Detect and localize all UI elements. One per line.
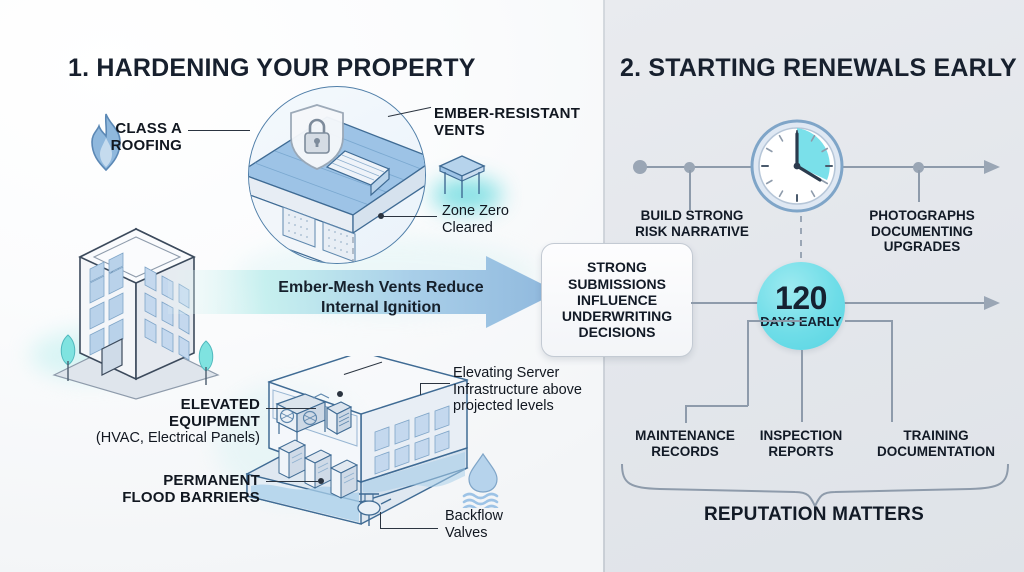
timeline-bottom-arrowhead [984,294,1002,312]
water-drop-waves-icon [460,452,506,508]
clock-to-badge-dashed-connector [800,216,802,262]
dot-zone-zero [378,213,384,219]
label-ember-resistant-vents: EMBER-RESISTANT VENTS [434,105,604,139]
clock-icon [749,118,845,214]
bottom-brace [620,462,1010,508]
label-class-a-roofing: CLASS A ROOFING [60,120,182,154]
infographic-canvas: 1. HARDENING YOUR PROPERTY 2. STARTING R… [0,0,1024,572]
dot-flood-barriers [318,478,324,484]
iso-elevated-equipment-building-icon [243,356,471,528]
label-maintenance-records: MAINTENANCE RECORDS [614,428,756,459]
label-zone-zero-cleared: Zone Zero Cleared [442,203,572,236]
leader-backflow-valves-v [380,512,381,529]
footer-reputation-matters: REPUTATION MATTERS [604,504,1024,526]
badge-120-days-early: 120 DAYS EARLY [757,262,845,350]
timeline-top-arrowhead [984,158,1002,176]
badge-number: 120 [775,283,827,314]
label-backflow-valves: Backflow Valves [445,508,565,541]
badge-unit: DAYS EARLY [760,315,841,329]
dot-server [337,391,343,397]
label-build-strong-risk-narrative: BUILD STRONG RISK NARRATIVE [620,208,764,239]
badge-branch-right [845,320,892,322]
leader-elevating-server-v [420,383,421,395]
ember-mesh-arrow-label: Ember-Mesh Vents Reduce Internal Ignitio… [256,278,506,318]
timeline-drop-build-narrative [689,170,691,210]
leader-class-a-roofing [188,130,250,131]
label-photographs-documenting-upgrades: PHOTOGRAPHS DOCUMENTING UPGRADES [852,208,992,255]
badge-branch-left [747,320,802,322]
center-callout-box: STRONG SUBMISSIONS INFLUENCE UNDERWRITIN… [541,243,693,357]
callout-to-badge-line [691,302,731,304]
leader-zone-zero [383,216,437,217]
leader-backflow-valves [380,528,438,529]
leader-elevating-server [420,383,450,384]
label-inspection-reports: INSPECTION REPORTS [745,428,857,459]
ember-vent-icon [432,150,492,202]
branch-left-v2 [685,405,687,423]
timeline-dot-start [633,160,647,174]
leader-elevated-equipment [266,408,316,409]
label-elevated-equipment-sub: (HVAC, Electrical Panels) [60,430,260,447]
page-title-left: 1. HARDENING YOUR PROPERTY [68,54,476,83]
label-training-documentation: TRAINING DOCUMENTATION [855,428,1017,459]
timeline-drop-photographs [918,170,920,202]
center-callout-text: STRONG SUBMISSIONS INFLUENCE UNDERWRITIN… [562,259,672,340]
label-permanent-flood-barriers: PERMANENT FLOOD BARRIERS [60,472,260,506]
label-elevating-server: Elevating Server Infrastructure above pr… [453,365,613,415]
branch-right-v [891,320,893,422]
label-elevated-equipment: ELEVATED EQUIPMENT [60,396,260,430]
timeline-bottom-line [700,302,990,304]
leader-flood-barriers [266,481,318,482]
page-title-right: 2. STARTING RENEWALS EARLY [620,54,1017,83]
badge-drop-inspection [801,350,803,422]
branch-left-v1 [747,320,749,406]
branch-left-h2 [685,405,748,407]
